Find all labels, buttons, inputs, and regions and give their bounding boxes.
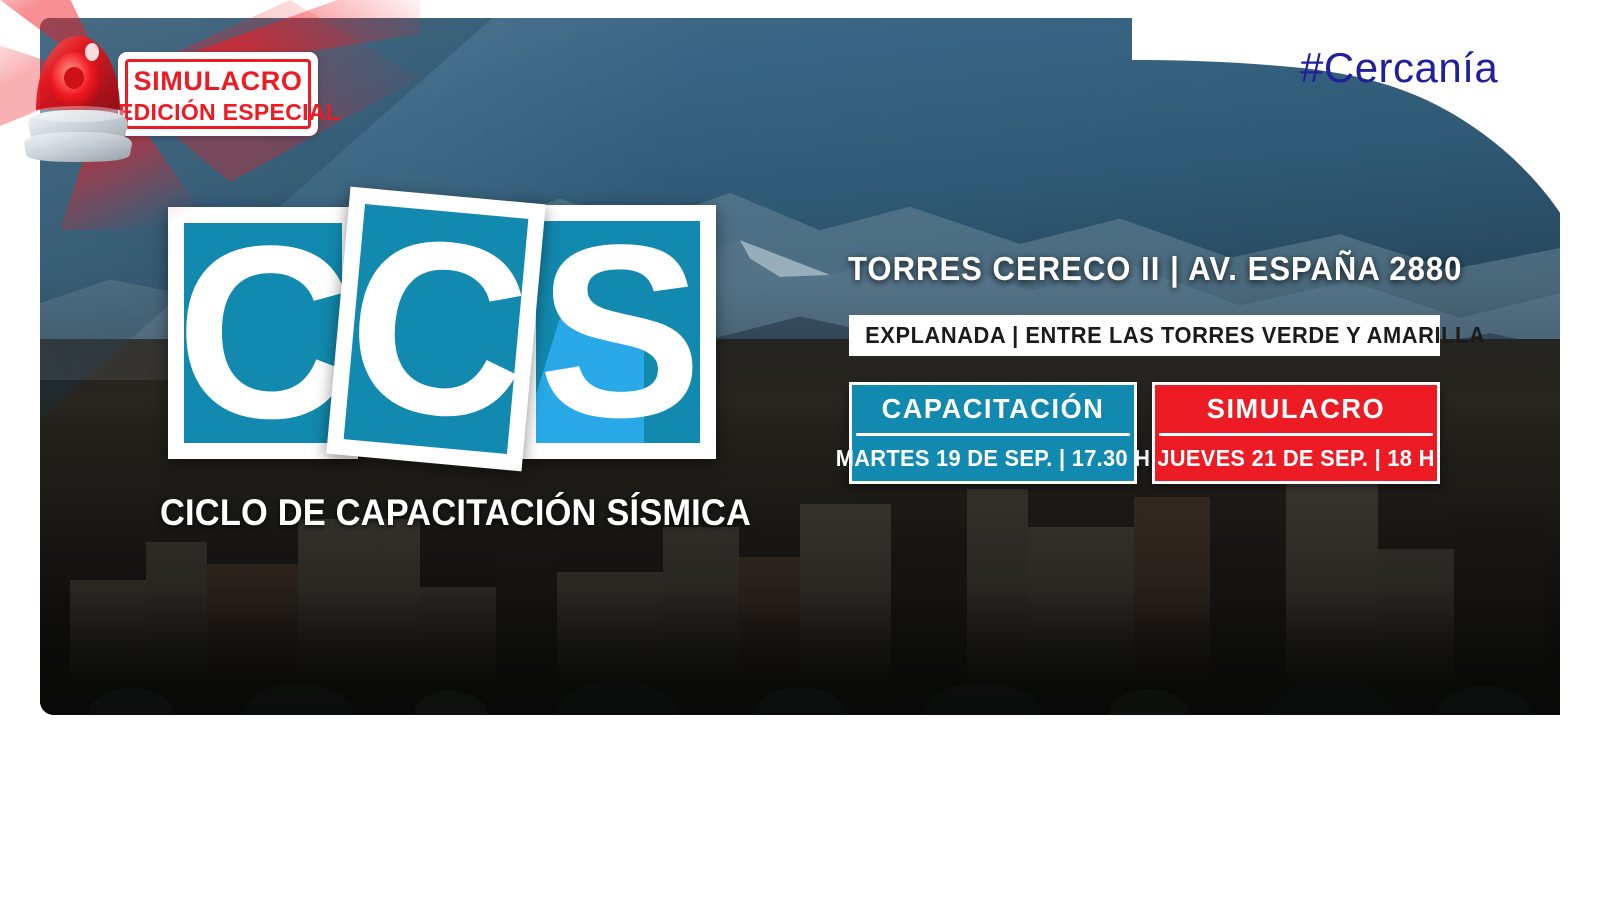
event-name-capacitacion: CAPACITACIÓN	[856, 385, 1130, 436]
ccs-letter-1: C	[176, 237, 350, 429]
badge-line-2: EDICIÓN ESPECIAL	[118, 99, 318, 126]
poster-canvas: C C S CICLO DE CAPACITACIÓN SÍSMICA TORR…	[0, 0, 1600, 900]
ccs-logo: C C S	[160, 195, 720, 465]
simulacro-special-edition-badge: SIMULACRO EDICIÓN ESPECIAL	[118, 52, 318, 136]
venue-detail-band: EXPLANADA | ENTRE LAS TORRES VERDE Y AMA…	[849, 315, 1440, 356]
event-date-capacitacion: MARTES 19 DE SEP. | 17.30 H	[859, 436, 1127, 481]
venue-title: TORRES CERECO II | AV. ESPAÑA 2880	[848, 250, 1462, 288]
footer: hacemosjuntos. WWW.CIUDADDEMENDOZA.GOB.A…	[0, 716, 1600, 900]
event-date-simulacro: JUEVES 21 DE SEP. | 18 H	[1162, 436, 1430, 481]
event-card-capacitacion[interactable]: CAPACITACIÓN MARTES 19 DE SEP. | 17.30 H	[849, 382, 1137, 484]
ccs-card-letter-3: S	[520, 205, 716, 459]
badge-line-1: SIMULACRO	[118, 66, 318, 97]
venue-detail-text: EXPLANADA | ENTRE LAS TORRES VERDE Y AMA…	[849, 322, 1485, 349]
ccs-letter-3: S	[538, 236, 698, 428]
ccs-letter-2: C	[341, 226, 531, 433]
ccs-card-letter-2: C	[326, 187, 545, 472]
event-card-simulacro[interactable]: SIMULACRO JUEVES 21 DE SEP. | 18 H	[1152, 382, 1440, 484]
siren-light-icon	[14, 14, 142, 162]
event-name-simulacro: SIMULACRO	[1159, 385, 1433, 436]
hashtag-cercania: #Cercanía	[1300, 44, 1498, 92]
ccs-subtitle: CICLO DE CAPACITACIÓN SÍSMICA	[160, 492, 830, 534]
